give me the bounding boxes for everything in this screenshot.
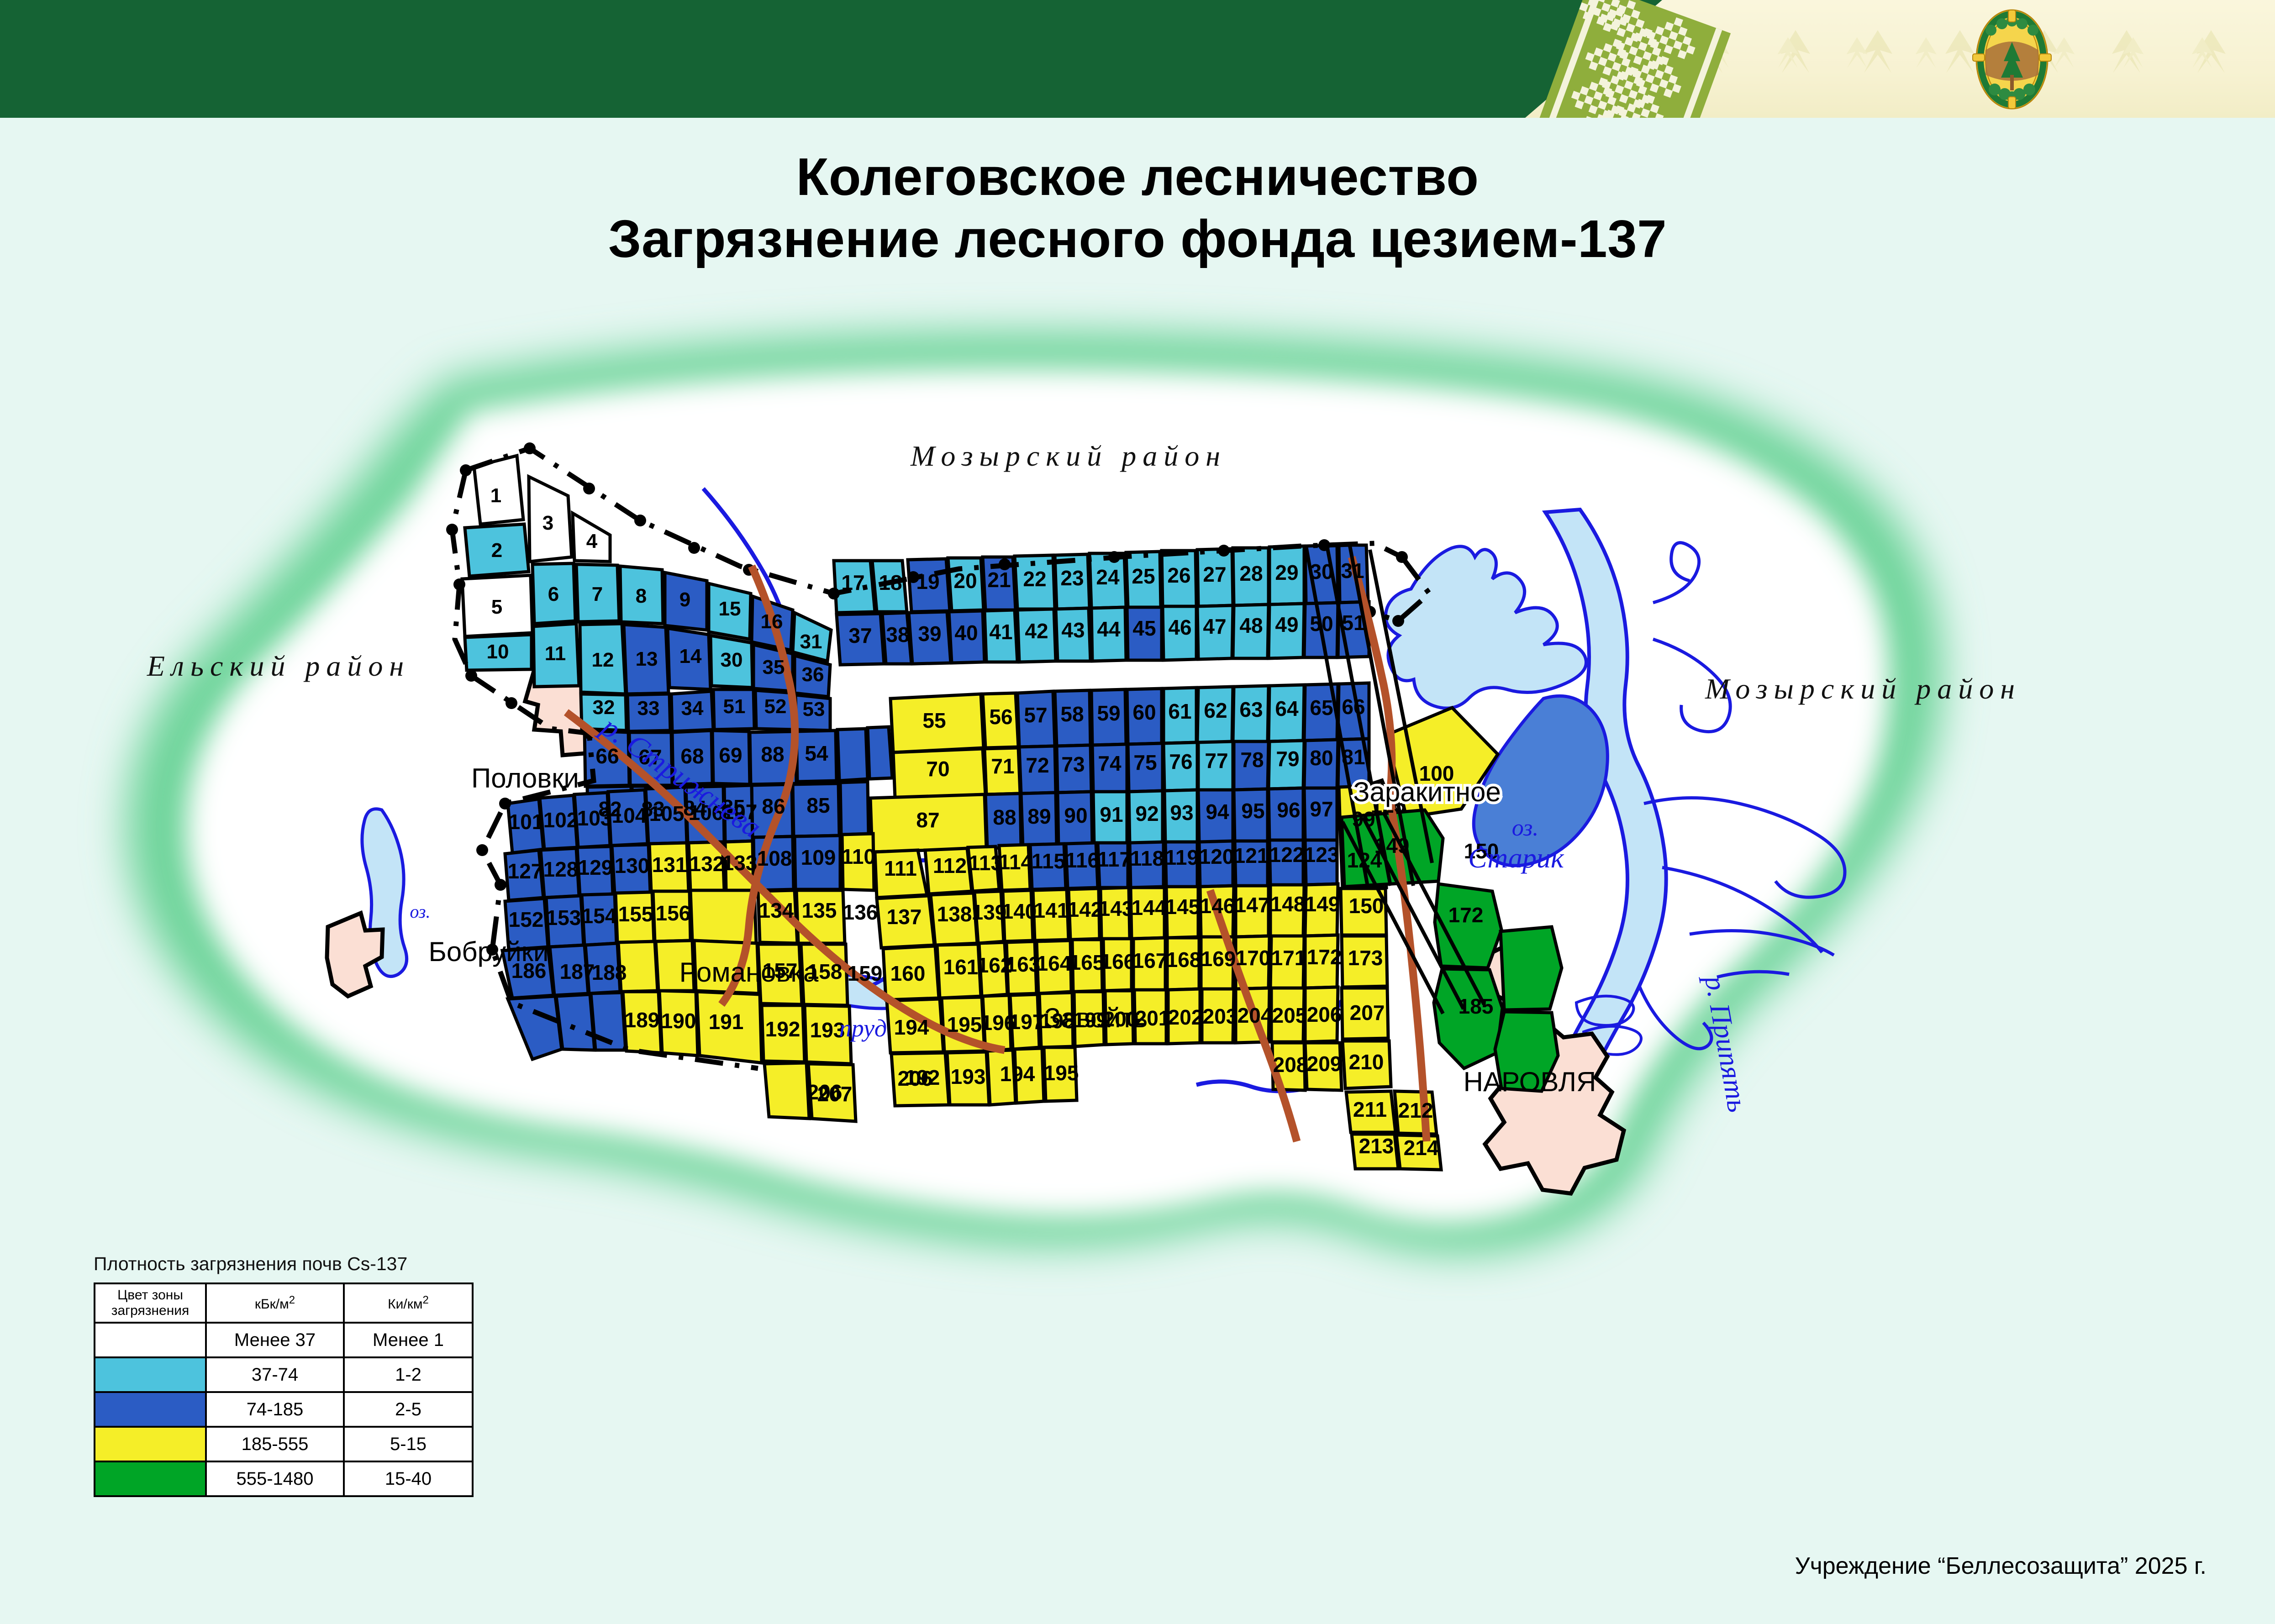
svg-text:57: 57 bbox=[1024, 703, 1047, 727]
svg-text:210: 210 bbox=[1349, 1050, 1384, 1074]
svg-text:144: 144 bbox=[1132, 896, 1167, 920]
svg-text:207: 207 bbox=[1350, 1001, 1385, 1025]
svg-text:71: 71 bbox=[991, 754, 1014, 778]
svg-text:136: 136 bbox=[843, 900, 878, 924]
svg-text:52: 52 bbox=[764, 695, 787, 718]
svg-text:207: 207 bbox=[817, 1082, 853, 1106]
svg-text:90: 90 bbox=[1064, 804, 1087, 827]
svg-text:204: 204 bbox=[1238, 1004, 1273, 1027]
svg-text:110: 110 bbox=[842, 845, 875, 868]
svg-text:214: 214 bbox=[1404, 1136, 1439, 1160]
svg-text:197: 197 bbox=[1009, 1010, 1044, 1034]
svg-text:91: 91 bbox=[1100, 803, 1123, 826]
svg-text:122: 122 bbox=[1269, 843, 1305, 867]
svg-text:93: 93 bbox=[1170, 801, 1193, 825]
svg-text:113: 113 bbox=[969, 851, 1002, 875]
svg-text:130: 130 bbox=[615, 854, 650, 878]
svg-text:15: 15 bbox=[719, 598, 741, 620]
legend-ki-value: Менее 1 bbox=[344, 1323, 473, 1357]
page-title: Колеговское лесничество Загрязнение лесн… bbox=[0, 146, 2275, 270]
legend-color-swatch bbox=[95, 1393, 205, 1426]
svg-text:109: 109 bbox=[801, 846, 836, 869]
svg-text:24: 24 bbox=[1096, 565, 1120, 589]
settlement-label-romanovka: Романовка bbox=[679, 957, 819, 988]
svg-text:72: 72 bbox=[1026, 753, 1049, 777]
svg-text:56: 56 bbox=[989, 705, 1012, 729]
svg-text:75: 75 bbox=[1133, 751, 1157, 774]
svg-text:76: 76 bbox=[1169, 750, 1192, 773]
legend-row: 74-1852-5 bbox=[95, 1392, 473, 1427]
svg-text:46: 46 bbox=[1168, 615, 1191, 639]
legend-ki-value: 1-2 bbox=[344, 1357, 473, 1392]
svg-text:22: 22 bbox=[1023, 567, 1046, 591]
svg-text:95: 95 bbox=[1241, 799, 1264, 823]
map-canvas[interactable]: 12 34 56 78 915 1631 1011 1213 1430 3536… bbox=[0, 274, 2275, 1301]
svg-text:128: 128 bbox=[543, 857, 579, 881]
svg-text:209: 209 bbox=[1307, 1052, 1342, 1076]
svg-text:193: 193 bbox=[951, 1065, 986, 1088]
svg-text:49: 49 bbox=[1275, 613, 1298, 636]
svg-text:39: 39 bbox=[918, 622, 941, 646]
svg-text:117: 117 bbox=[1097, 847, 1131, 871]
svg-text:149: 149 bbox=[1374, 834, 1410, 857]
svg-text:195: 195 bbox=[947, 1013, 982, 1036]
legend-header-row: Цвет зоны загрязнения кБк/м2 Ки/км2 bbox=[95, 1283, 473, 1323]
svg-text:154: 154 bbox=[582, 904, 617, 928]
lake-prefix-west: оз. bbox=[410, 901, 430, 922]
svg-text:123: 123 bbox=[1304, 843, 1339, 867]
svg-text:26: 26 bbox=[1167, 563, 1190, 587]
svg-text:171: 171 bbox=[1271, 946, 1306, 970]
svg-text:163: 163 bbox=[1006, 952, 1041, 976]
svg-text:208: 208 bbox=[1273, 1053, 1308, 1077]
svg-text:112: 112 bbox=[933, 854, 967, 878]
svg-text:104: 104 bbox=[612, 804, 647, 827]
svg-text:64: 64 bbox=[1275, 697, 1299, 720]
legend-ki-value: 5-15 bbox=[344, 1427, 473, 1461]
svg-text:116: 116 bbox=[1065, 848, 1099, 872]
svg-text:79: 79 bbox=[1276, 747, 1299, 771]
legend-header-kbk-text: кБк/м bbox=[255, 1297, 289, 1312]
legend-header-ki-sup: 2 bbox=[422, 1294, 428, 1306]
legend-ki-value: 2-5 bbox=[344, 1392, 473, 1427]
svg-text:206: 206 bbox=[1307, 1003, 1342, 1026]
svg-text:187: 187 bbox=[560, 960, 595, 983]
legend-title: Плотность загрязнения почв Cs-137 bbox=[94, 1253, 474, 1275]
svg-text:78: 78 bbox=[1240, 748, 1264, 772]
settlement-label-zarakitnoe: Заракитное bbox=[1353, 777, 1501, 807]
district-label-mozyr-east: Мозырский район bbox=[1705, 673, 2021, 705]
svg-text:147: 147 bbox=[1235, 893, 1270, 917]
svg-text:211: 211 bbox=[1353, 1098, 1387, 1121]
svg-text:135: 135 bbox=[802, 899, 837, 922]
legend-row: 37-741-2 bbox=[95, 1357, 473, 1392]
svg-text:74: 74 bbox=[1098, 752, 1122, 775]
svg-text:206: 206 bbox=[898, 1067, 933, 1090]
svg-text:8: 8 bbox=[636, 585, 647, 607]
svg-text:118: 118 bbox=[1130, 846, 1164, 870]
legend-header-ki: Ки/км2 bbox=[344, 1283, 473, 1323]
legend-swatch-cell bbox=[95, 1392, 206, 1427]
svg-text:172: 172 bbox=[1448, 903, 1484, 927]
title-line-2: Загрязнение лесного фонда цезием-137 bbox=[0, 208, 2275, 270]
svg-text:164: 164 bbox=[1037, 951, 1072, 975]
svg-text:61: 61 bbox=[1168, 699, 1191, 723]
legend-kbk-value: 37-74 bbox=[206, 1357, 344, 1392]
settlement-label-zavoit: Завойть bbox=[1044, 1003, 1148, 1033]
svg-text:188: 188 bbox=[592, 961, 627, 984]
legend-kbk-value: 555-1480 bbox=[206, 1461, 344, 1496]
legend-color-swatch bbox=[95, 1462, 205, 1495]
legend-swatch-cell bbox=[95, 1357, 206, 1392]
svg-text:102: 102 bbox=[543, 808, 579, 832]
legend-row: 555-148015-40 bbox=[95, 1461, 473, 1496]
svg-text:47: 47 bbox=[1203, 615, 1226, 638]
legend-panel: Плотность загрязнения почв Cs-137 Цвет з… bbox=[94, 1253, 474, 1497]
svg-text:73: 73 bbox=[1061, 752, 1085, 776]
svg-text:88: 88 bbox=[761, 742, 784, 766]
svg-text:34: 34 bbox=[681, 697, 704, 720]
svg-text:25: 25 bbox=[1132, 564, 1155, 588]
svg-text:60: 60 bbox=[1132, 700, 1156, 724]
svg-text:120: 120 bbox=[1199, 845, 1234, 868]
svg-text:121: 121 bbox=[1234, 844, 1269, 867]
svg-text:108: 108 bbox=[757, 846, 792, 870]
svg-text:27: 27 bbox=[1203, 562, 1226, 586]
svg-text:159: 159 bbox=[848, 962, 883, 985]
header-green-panel bbox=[0, 0, 1662, 118]
svg-text:23: 23 bbox=[1060, 566, 1084, 590]
svg-text:11: 11 bbox=[545, 642, 566, 665]
svg-text:37: 37 bbox=[848, 624, 872, 647]
legend-row: 185-5555-15 bbox=[95, 1427, 473, 1461]
svg-text:173: 173 bbox=[1348, 946, 1383, 970]
svg-text:167: 167 bbox=[1132, 949, 1168, 972]
lake-label-starik: Старик bbox=[1468, 843, 1564, 874]
svg-text:43: 43 bbox=[1061, 618, 1085, 642]
svg-text:142: 142 bbox=[1068, 898, 1103, 921]
svg-text:105: 105 bbox=[649, 802, 685, 825]
svg-text:169: 169 bbox=[1201, 947, 1236, 971]
legend-header-color: Цвет зоны загрязнения bbox=[95, 1283, 206, 1323]
legend-swatch-cell bbox=[95, 1323, 206, 1357]
legend-table: Цвет зоны загрязнения кБк/м2 Ки/км2 Мене… bbox=[94, 1282, 474, 1497]
svg-text:1: 1 bbox=[490, 484, 501, 507]
svg-text:5: 5 bbox=[491, 596, 502, 618]
svg-text:132: 132 bbox=[690, 852, 725, 876]
svg-text:137: 137 bbox=[887, 905, 922, 929]
svg-text:40: 40 bbox=[954, 621, 978, 645]
svg-text:21: 21 bbox=[987, 568, 1011, 592]
svg-text:89: 89 bbox=[1027, 804, 1051, 828]
svg-text:45: 45 bbox=[1132, 616, 1156, 640]
svg-text:54: 54 bbox=[805, 741, 828, 765]
svg-text:153: 153 bbox=[546, 906, 581, 930]
district-label-elsk: Ельский район bbox=[147, 650, 410, 682]
svg-text:165: 165 bbox=[1069, 951, 1105, 974]
svg-text:70: 70 bbox=[926, 757, 949, 781]
svg-text:189: 189 bbox=[625, 1008, 660, 1032]
svg-text:35: 35 bbox=[763, 656, 785, 678]
svg-text:101: 101 bbox=[509, 810, 544, 834]
svg-text:145: 145 bbox=[1165, 895, 1201, 919]
svg-text:103: 103 bbox=[577, 806, 612, 830]
svg-text:194: 194 bbox=[894, 1015, 929, 1039]
svg-text:166: 166 bbox=[1101, 950, 1136, 973]
svg-text:129: 129 bbox=[578, 856, 613, 879]
svg-text:141: 141 bbox=[1034, 899, 1069, 922]
svg-text:36: 36 bbox=[802, 663, 824, 686]
svg-text:77: 77 bbox=[1205, 749, 1228, 773]
pond-label: пруд bbox=[839, 1014, 887, 1042]
svg-text:161: 161 bbox=[943, 955, 979, 979]
svg-text:7: 7 bbox=[592, 583, 603, 605]
svg-text:6: 6 bbox=[548, 583, 559, 605]
svg-text:195: 195 bbox=[1044, 1061, 1079, 1085]
svg-text:202: 202 bbox=[1168, 1005, 1203, 1029]
svg-text:87: 87 bbox=[916, 808, 939, 832]
legend-color-swatch bbox=[95, 1358, 205, 1391]
svg-text:146: 146 bbox=[1200, 894, 1235, 918]
svg-text:59: 59 bbox=[1097, 701, 1120, 725]
svg-text:111: 111 bbox=[884, 857, 917, 880]
svg-text:31: 31 bbox=[1341, 559, 1364, 583]
svg-text:150: 150 bbox=[1349, 894, 1384, 918]
svg-text:80: 80 bbox=[1310, 746, 1333, 770]
svg-text:51: 51 bbox=[723, 695, 746, 718]
svg-text:185: 185 bbox=[1459, 994, 1494, 1018]
svg-text:170: 170 bbox=[1236, 946, 1271, 970]
svg-text:96: 96 bbox=[1277, 798, 1300, 822]
settlement-label-naroulia: НАРОВЛЯ bbox=[1464, 1067, 1596, 1097]
svg-text:94: 94 bbox=[1206, 800, 1229, 824]
svg-text:62: 62 bbox=[1204, 699, 1227, 722]
footer-credit: Учреждение “Беллесозащита” 2025 г. bbox=[1795, 1552, 2207, 1580]
legend-header-kbk-sup: 2 bbox=[289, 1294, 295, 1306]
svg-text:140: 140 bbox=[1002, 899, 1037, 923]
svg-text:97: 97 bbox=[1310, 797, 1333, 821]
legend-header-kbk: кБк/м2 bbox=[206, 1283, 344, 1323]
legend-color-swatch bbox=[95, 1324, 205, 1356]
svg-text:50: 50 bbox=[1310, 612, 1333, 636]
svg-text:31: 31 bbox=[800, 631, 822, 653]
svg-text:13: 13 bbox=[636, 648, 658, 670]
svg-text:42: 42 bbox=[1025, 619, 1048, 643]
svg-text:9: 9 bbox=[679, 589, 690, 611]
svg-text:66: 66 bbox=[1342, 695, 1365, 719]
legend-color-swatch bbox=[95, 1428, 205, 1461]
legend-kbk-value: 185-555 bbox=[206, 1427, 344, 1461]
svg-text:10: 10 bbox=[487, 641, 509, 663]
svg-text:69: 69 bbox=[719, 743, 742, 767]
svg-text:88: 88 bbox=[993, 805, 1016, 829]
svg-text:212: 212 bbox=[1398, 1098, 1433, 1122]
svg-text:3: 3 bbox=[542, 512, 553, 534]
svg-text:168: 168 bbox=[1166, 948, 1201, 972]
legend-swatch-cell bbox=[95, 1427, 206, 1461]
svg-text:18: 18 bbox=[879, 571, 902, 594]
svg-text:194: 194 bbox=[1000, 1062, 1035, 1086]
svg-text:19: 19 bbox=[916, 570, 939, 594]
svg-text:172: 172 bbox=[1307, 945, 1342, 969]
svg-text:38: 38 bbox=[886, 623, 909, 646]
svg-text:149: 149 bbox=[1305, 892, 1340, 916]
svg-text:16: 16 bbox=[761, 610, 783, 633]
svg-text:12: 12 bbox=[592, 649, 614, 671]
svg-text:134: 134 bbox=[759, 899, 794, 922]
svg-text:155: 155 bbox=[618, 902, 653, 926]
settlement-label-polovki: Половки bbox=[471, 763, 579, 794]
svg-text:58: 58 bbox=[1060, 702, 1084, 726]
svg-text:152: 152 bbox=[509, 908, 544, 931]
svg-text:160: 160 bbox=[890, 962, 926, 985]
svg-text:65: 65 bbox=[1310, 696, 1333, 720]
legend-swatch-cell bbox=[95, 1461, 206, 1496]
svg-text:205: 205 bbox=[1272, 1004, 1307, 1027]
svg-text:203: 203 bbox=[1203, 1004, 1238, 1028]
svg-text:190: 190 bbox=[661, 1009, 696, 1033]
svg-text:33: 33 bbox=[637, 697, 660, 720]
svg-text:143: 143 bbox=[1099, 897, 1134, 920]
svg-text:92: 92 bbox=[1135, 802, 1159, 825]
legend-header-ki-text: Ки/км bbox=[388, 1297, 422, 1312]
svg-text:55: 55 bbox=[922, 709, 946, 732]
svg-text:115: 115 bbox=[1032, 849, 1065, 873]
svg-text:4: 4 bbox=[586, 530, 598, 552]
svg-text:133: 133 bbox=[722, 851, 758, 875]
svg-text:138: 138 bbox=[937, 902, 972, 926]
svg-text:44: 44 bbox=[1097, 617, 1121, 641]
belarus-forestry-emblem bbox=[1959, 6, 2065, 112]
legend-kbk-value: Менее 37 bbox=[206, 1323, 344, 1357]
legend-ki-value: 15-40 bbox=[344, 1461, 473, 1496]
legend-body: Менее 37Менее 137-741-274-1852-5185-5555… bbox=[95, 1323, 473, 1496]
svg-text:127: 127 bbox=[508, 859, 543, 883]
svg-text:30: 30 bbox=[1310, 560, 1333, 583]
settlement-label-bobruiki: Бобруйки bbox=[428, 936, 548, 967]
svg-text:213: 213 bbox=[1359, 1134, 1394, 1158]
forestry-map[interactable]: 12 34 56 78 915 1631 1011 1213 1430 3536… bbox=[0, 274, 2275, 1301]
svg-text:29: 29 bbox=[1275, 561, 1298, 584]
svg-text:53: 53 bbox=[803, 698, 825, 720]
svg-text:28: 28 bbox=[1239, 562, 1263, 585]
svg-text:85: 85 bbox=[806, 794, 830, 817]
svg-text:51: 51 bbox=[1342, 611, 1365, 635]
svg-text:192: 192 bbox=[765, 1017, 800, 1041]
svg-text:81: 81 bbox=[1342, 745, 1365, 769]
district-label-mozyr-north: Мозырский район bbox=[910, 440, 1227, 472]
svg-text:63: 63 bbox=[1239, 698, 1263, 721]
svg-text:156: 156 bbox=[656, 901, 691, 925]
svg-text:17: 17 bbox=[841, 571, 864, 594]
svg-text:86: 86 bbox=[762, 794, 785, 818]
svg-text:131: 131 bbox=[652, 853, 687, 877]
page-header bbox=[0, 0, 2275, 118]
svg-text:48: 48 bbox=[1239, 614, 1263, 637]
svg-text:20: 20 bbox=[953, 569, 977, 593]
svg-text:191: 191 bbox=[709, 1010, 744, 1034]
svg-text:41: 41 bbox=[989, 620, 1012, 644]
legend-row: Менее 37Менее 1 bbox=[95, 1323, 473, 1357]
svg-text:2: 2 bbox=[491, 539, 502, 562]
svg-text:119: 119 bbox=[1165, 846, 1199, 869]
title-line-1: Колеговское лесничество bbox=[0, 146, 2275, 208]
lake-prefix-starik: оз. bbox=[1512, 815, 1539, 841]
svg-text:148: 148 bbox=[1270, 892, 1306, 916]
svg-text:30: 30 bbox=[721, 649, 743, 671]
svg-text:114: 114 bbox=[999, 850, 1033, 874]
legend-kbk-value: 74-185 bbox=[206, 1392, 344, 1427]
svg-text:14: 14 bbox=[679, 645, 702, 667]
